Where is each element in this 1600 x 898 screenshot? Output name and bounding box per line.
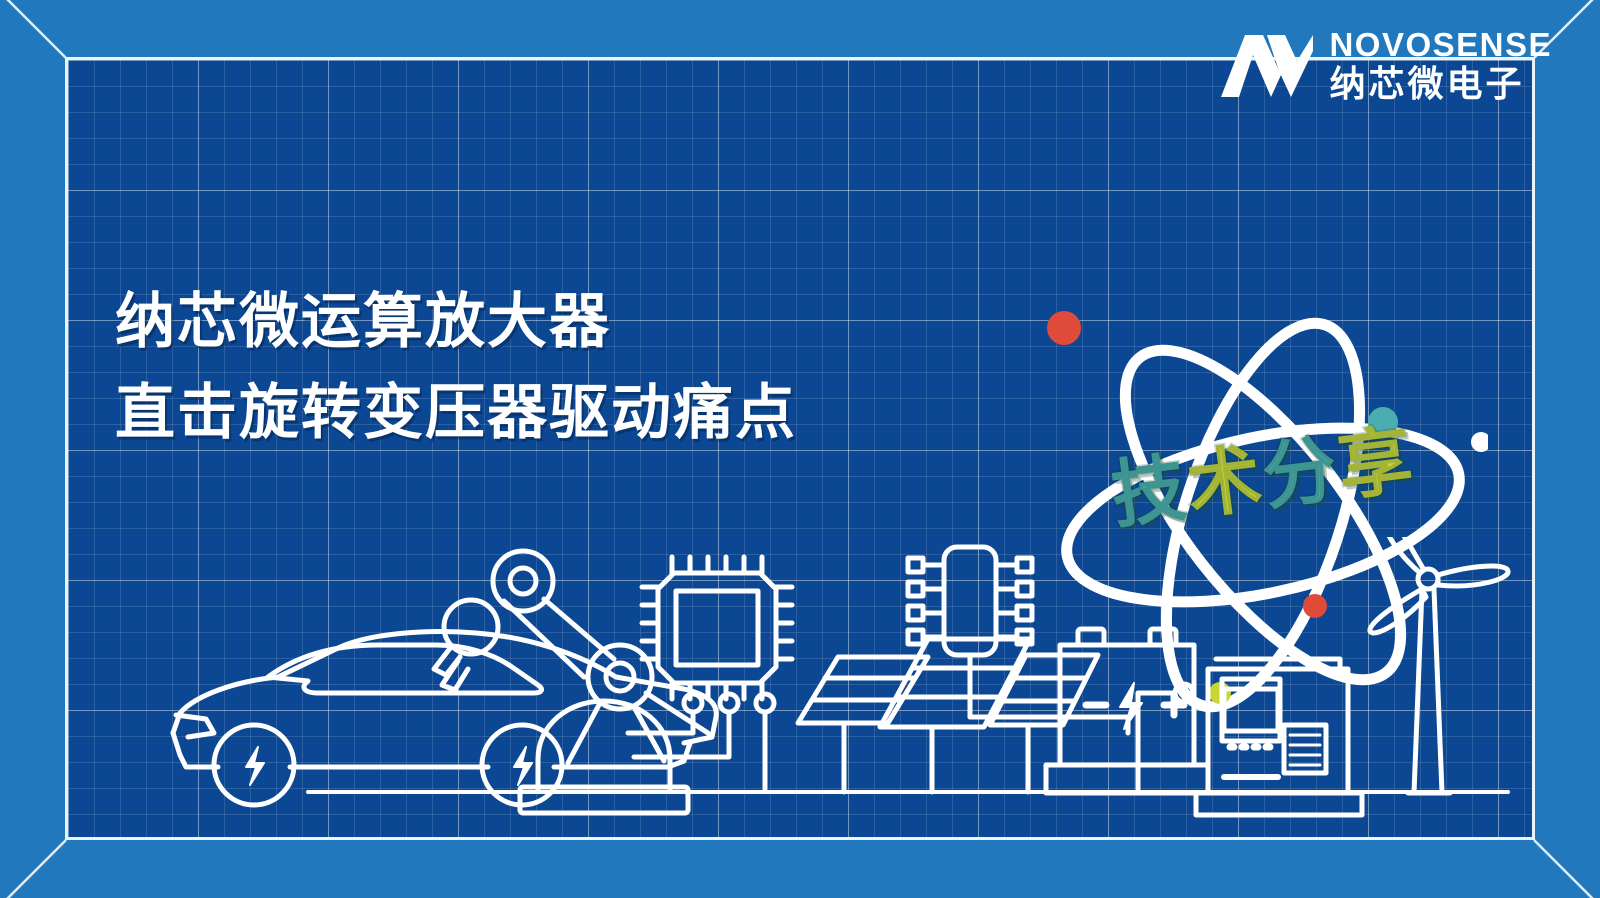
bottom-illustration [68,537,1532,837]
car-headlight [176,715,214,737]
badge-char-2: 术 [1183,441,1267,524]
logo-wordmark: NOVOSENSE 纳芯微电子 [1329,28,1552,102]
car-bolt-rear [514,747,532,785]
page-title: 纳芯微运算放大器 直击旋转变压器驱动痛点 [115,276,797,458]
robotic-arm [434,551,708,813]
badge-char-3: 分 [1258,432,1342,515]
logo-english: NOVOSENSE [1329,28,1552,61]
poster-canvas: 技 术 分 享 [0,0,1600,898]
brand-logo: NOVOSENSE 纳芯微电子 [1219,27,1552,103]
title-line-1: 纳芯微运算放大器 [115,288,611,355]
electron-red-top [1047,311,1081,345]
novosense-n-mark [1219,27,1315,103]
qfp-chip [642,557,792,699]
car-bolt-front [246,747,264,785]
electron-white-right [1471,432,1488,452]
wind-turbine [1370,537,1508,793]
badge-char-4: 享 [1334,423,1418,506]
logo-chinese: 纳芯微电子 [1329,66,1552,102]
title-line-2: 直击旋转变压器驱动痛点 [115,367,797,458]
badge-char-1: 技 [1108,451,1192,534]
corner-line-br [1534,840,1600,898]
corner-line-tl [0,0,66,58]
corner-line-bl [0,840,66,898]
